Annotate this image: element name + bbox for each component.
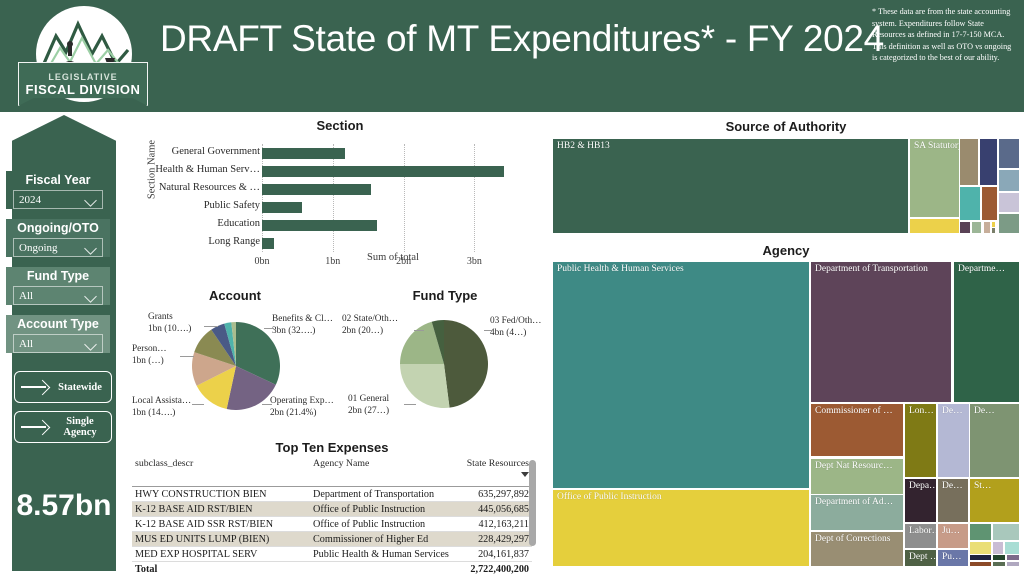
pie-label-name: Benefits & Cl…: [272, 314, 333, 324]
source-of-authority-cell[interactable]: [998, 192, 1020, 213]
section-category-label: General Government: [130, 146, 260, 157]
ongoing-oto-value: Ongoing: [14, 242, 58, 254]
agency-cell-label: De…: [938, 404, 969, 416]
agency-cell-label: Department of Ad…: [811, 495, 903, 507]
filter-fiscal-year: Fiscal Year 2024: [6, 171, 110, 209]
agency-cell-label: Pu…: [938, 550, 968, 562]
gridline: [333, 144, 334, 252]
agency-cell[interactable]: Department of Transportation: [810, 261, 952, 403]
chevron-down-icon: [84, 194, 97, 207]
gridline: [262, 144, 263, 252]
section-bar[interactable]: [262, 148, 345, 159]
agency-cell-label: Depa…: [905, 479, 936, 491]
source-of-authority-cell[interactable]: HB2 & HB13: [552, 138, 909, 234]
agency-cell-label: Department of Transportation: [811, 262, 951, 274]
gridline: [404, 144, 405, 252]
pie-label-value: 1bn (10….): [148, 324, 191, 334]
agency-cell[interactable]: Dept of Corrections: [810, 531, 904, 567]
total-amount: 2,722,400,200: [452, 562, 532, 576]
section-bar[interactable]: [262, 166, 504, 177]
agency-cell[interactable]: Pu…: [937, 549, 969, 567]
pie-label-leader-line: [192, 404, 204, 405]
filter-account-type: Account Type All: [6, 315, 110, 353]
table-total-row: Total2,722,400,200: [132, 562, 532, 576]
pie-data-label: 02 State/Oth…2bn (20…): [342, 314, 398, 337]
logo-line-2: FISCAL DIVISION: [26, 82, 141, 97]
chevron-down-icon: [84, 290, 97, 303]
account-type-value: All: [14, 338, 33, 350]
header-footnote: * These data are from the state accounti…: [872, 6, 1018, 64]
pie-label-leader-line: [414, 330, 424, 331]
table-row[interactable]: K-12 BASE AID RST/BIENOffice of Public I…: [132, 502, 532, 517]
arrow-right-icon: [19, 418, 53, 436]
pie-label-name: 01 General: [348, 394, 389, 404]
cell-agency: Office of Public Instruction: [310, 517, 452, 532]
section-bar-chart[interactable]: Section Name General GovernmentHealth & …: [130, 118, 545, 278]
source-of-authority-cell[interactable]: [959, 138, 979, 186]
source-of-authority-cell[interactable]: [983, 221, 991, 234]
arrow-right-icon: [19, 378, 53, 396]
source-of-authority-title: Source of Authority: [548, 119, 1024, 134]
pie-slices: [192, 322, 280, 410]
logo-line-1: LEGISLATIVE: [48, 72, 117, 82]
source-of-authority-cell[interactable]: [979, 138, 998, 186]
agency-cell-label: Ju…: [938, 524, 968, 536]
cell-subclass: K-12 BASE AID SSR RST/BIEN: [132, 517, 310, 532]
pie-label-leader-line: [264, 328, 274, 329]
agency-cell-label: De…: [970, 404, 1019, 416]
agency-cell[interactable]: [992, 554, 1006, 561]
section-bar[interactable]: [262, 184, 371, 195]
sidebar-arrow-shape: [12, 115, 116, 171]
pie-label-value: 2bn (27…): [348, 406, 389, 416]
single-agency-button[interactable]: Single Agency: [14, 411, 112, 443]
filter-ongoing-oto: Ongoing/OTO Ongoing: [6, 219, 110, 257]
source-of-authority-cell[interactable]: SA Statutory: [909, 138, 960, 218]
fiscal-year-select[interactable]: 2024: [13, 190, 103, 209]
table-row[interactable]: K-12 BASE AID SSR RST/BIENOffice of Publ…: [132, 517, 532, 532]
cell-amount: 228,429,297: [452, 532, 532, 547]
source-of-authority-treemap[interactable]: HB2 & HB13SA Statutory: [552, 138, 1020, 234]
source-of-authority-cell[interactable]: [998, 169, 1020, 192]
pie-label-value: 2bn (20…): [342, 326, 383, 336]
statewide-button[interactable]: Statewide: [14, 371, 112, 403]
agency-cell-label: Dept …: [905, 550, 936, 562]
agency-cell-label: Dept Nat Resourc…: [811, 459, 903, 471]
table-row[interactable]: MUS ED UNITS LUMP (BIEN)Commissioner of …: [132, 532, 532, 547]
column-header-agency[interactable]: Agency Name: [310, 457, 452, 487]
filter-fund-type: Fund Type All: [6, 267, 110, 305]
pie-slice[interactable]: [444, 320, 488, 408]
agency-cell[interactable]: De…: [969, 403, 1020, 478]
agency-cell-label: De…: [938, 479, 968, 491]
agency-cell[interactable]: Labor…: [904, 523, 937, 549]
agency-cell-label: Commissioner of …: [811, 404, 903, 416]
legislative-fiscal-division-logo: LEGISLATIVE FISCAL DIVISION: [14, 2, 150, 112]
agency-cell[interactable]: De…: [937, 478, 969, 523]
agency-cell[interactable]: St…: [969, 478, 1020, 523]
cell-amount: 635,297,892: [452, 487, 532, 502]
cell-amount: 204,161,837: [452, 547, 532, 562]
cell-agency: Commissioner of Higher Ed: [310, 532, 452, 547]
pie-data-label: Person…1bn (…): [132, 344, 167, 367]
pie-slice[interactable]: [400, 364, 450, 408]
account-type-select[interactable]: All: [13, 334, 103, 353]
fund-type-select[interactable]: All: [13, 286, 103, 305]
agency-cell[interactable]: [992, 541, 1004, 555]
section-bar[interactable]: [262, 220, 377, 231]
pie-label-value: 2bn (21.4%): [270, 408, 316, 418]
agency-cell[interactable]: Office of Public Instruction: [552, 489, 810, 567]
pie-label-name: Grants: [148, 312, 173, 322]
section-bar[interactable]: [262, 202, 302, 213]
column-header-state-resources-label: State Resources: [467, 458, 529, 469]
section-chart-x-axis-label: Sum of total: [262, 252, 524, 263]
cell-agency: Department of Transportation: [310, 487, 452, 502]
fund-type-pie-chart[interactable]: 03 Fed/Oth…4bn (4…)01 General2bn (27…)02…: [342, 300, 547, 430]
total-label: Total: [132, 562, 310, 576]
pie-label-name: Operating Exp…: [270, 396, 334, 406]
section-chart-plot-area: 0bn1bn2bn3bn: [262, 144, 524, 252]
agency-cell[interactable]: [969, 561, 992, 567]
agency-cell[interactable]: Ju…: [937, 523, 969, 549]
agency-cell[interactable]: [992, 523, 1020, 541]
page-title: DRAFT State of MT Expenditures* - FY 202…: [160, 18, 884, 60]
agency-cell-label: Labor…: [905, 524, 936, 536]
pie-label-name: Local Assista…: [132, 396, 191, 406]
cell-amount: 412,163,211: [452, 517, 532, 532]
agency-treemap-title: Agency: [548, 243, 1024, 258]
pie-label-leader-line: [180, 356, 194, 357]
agency-cell[interactable]: Lon…: [904, 403, 937, 478]
gridline: [474, 144, 475, 252]
agency-cell[interactable]: Commissioner of …: [810, 403, 904, 457]
pie-data-label: 03 Fed/Oth…4bn (4…): [490, 316, 541, 339]
cell-subclass: MED EXP HOSPITAL SERV: [132, 547, 310, 562]
agency-cell[interactable]: [1006, 554, 1020, 561]
source-of-authority-cell[interactable]: [971, 221, 982, 234]
agency-cell[interactable]: Dept …: [904, 549, 937, 567]
source-of-authority-cell[interactable]: [959, 221, 971, 234]
section-category-label: Long Range: [130, 236, 260, 247]
pie-label-name: 03 Fed/Oth…: [490, 316, 541, 326]
agency-cell[interactable]: [969, 541, 992, 555]
agency-cell[interactable]: Public Health & Human Services: [552, 261, 810, 489]
column-header-subclass[interactable]: subclass_descr: [132, 457, 310, 487]
top-ten-expenses-table[interactable]: subclass_descr Agency Name State Resourc…: [132, 438, 547, 571]
chevron-down-icon: [84, 242, 97, 255]
agency-cell-label: Office of Public Instruction: [553, 490, 809, 502]
sort-descending-icon: [521, 472, 529, 477]
agency-cell[interactable]: [969, 523, 992, 541]
source-of-authority-cell[interactable]: [998, 138, 1020, 169]
source-of-authority-cell-label: SA Statutory: [910, 139, 959, 151]
pie-slices: [400, 320, 488, 408]
agency-cell[interactable]: De…: [937, 403, 970, 478]
table-header-row: subclass_descr Agency Name State Resourc…: [132, 457, 532, 487]
pie-data-label: 01 General2bn (27…): [348, 394, 389, 417]
expenses-table: subclass_descr Agency Name State Resourc…: [132, 457, 532, 576]
pie-label-leader-line: [204, 326, 218, 327]
agency-cell[interactable]: Depa…: [904, 478, 937, 523]
table-row[interactable]: HWY CONSTRUCTION BIENDepartment of Trans…: [132, 487, 532, 502]
total-spacer: [310, 562, 452, 576]
agency-treemap[interactable]: Public Health & Human ServicesOffice of …: [552, 261, 1020, 567]
section-category-label: Health & Human Serv…: [130, 164, 260, 175]
pie-label-value: 3bn (32….): [272, 326, 315, 336]
agency-cell[interactable]: Departme…: [953, 261, 1020, 403]
agency-cell[interactable]: Dept Nat Resourc…: [810, 458, 904, 495]
pie-data-label: Local Assista…1bn (14….): [132, 396, 191, 419]
fund-type-value: All: [14, 290, 33, 302]
section-category-label: Natural Resources & …: [130, 182, 260, 193]
agency-cell[interactable]: [969, 554, 992, 561]
agency-cell[interactable]: [1006, 561, 1020, 567]
agency-cell-label: Public Health & Human Services: [553, 262, 809, 274]
table-row[interactable]: MED EXP HOSPITAL SERVPublic Health & Hum…: [132, 547, 532, 562]
section-category-label: Public Safety: [130, 200, 260, 211]
filter-label-account-type: Account Type: [6, 315, 110, 334]
source-of-authority-cell-label: HB2 & HB13: [553, 139, 908, 151]
source-of-authority-cell[interactable]: [959, 186, 981, 221]
single-agency-button-label: Single Agency: [53, 416, 111, 438]
section-category-label: Education: [130, 218, 260, 229]
table-body: HWY CONSTRUCTION BIENDepartment of Trans…: [132, 487, 532, 576]
cell-agency: Public Health & Human Services: [310, 547, 452, 562]
filter-label-fiscal-year: Fiscal Year: [6, 171, 110, 190]
section-chart-category-labels: General GovernmentHealth & Human Serv…Na…: [130, 144, 260, 252]
cell-subclass: HWY CONSTRUCTION BIEN: [132, 487, 310, 502]
pie-label-value: 4bn (4…): [490, 328, 526, 338]
agency-cell[interactable]: Department of Ad…: [810, 494, 904, 531]
agency-cell-label: Dept of Corrections: [811, 532, 903, 544]
pie-label-value: 1bn (…): [132, 356, 164, 366]
column-header-state-resources[interactable]: State Resources: [452, 457, 532, 487]
fiscal-year-value: 2024: [14, 194, 41, 206]
filter-label-ongoing-oto: Ongoing/OTO: [6, 219, 110, 238]
agency-cell-label: Departme…: [954, 262, 1019, 274]
pie-data-label: Operating Exp…2bn (21.4%): [270, 396, 334, 419]
pie-label-name: 02 State/Oth…: [342, 314, 398, 324]
source-of-authority-cell[interactable]: [909, 218, 960, 234]
pie-label-leader-line: [262, 404, 272, 405]
cell-amount: 445,056,685: [452, 502, 532, 517]
source-of-authority-cell[interactable]: [981, 186, 998, 221]
source-of-authority-cell[interactable]: [998, 213, 1020, 234]
pie-data-label: Grants1bn (10….): [148, 312, 191, 335]
agency-cell[interactable]: [1004, 541, 1020, 555]
agency-cell-label: Lon…: [905, 404, 936, 416]
agency-cell-label: St…: [970, 479, 1019, 491]
ongoing-oto-select[interactable]: Ongoing: [13, 238, 103, 257]
cell-subclass: MUS ED UNITS LUMP (BIEN): [132, 532, 310, 547]
pie-label-leader-line: [484, 330, 492, 331]
agency-cell[interactable]: [992, 561, 1006, 567]
pie-label-leader-line: [404, 404, 416, 405]
pie-label-name: Person…: [132, 344, 167, 354]
app-header: LEGISLATIVE FISCAL DIVISION DRAFT State …: [0, 0, 1024, 112]
cell-agency: Office of Public Instruction: [310, 502, 452, 517]
source-of-authority-cell[interactable]: [991, 227, 996, 234]
filter-label-fund-type: Fund Type: [6, 267, 110, 286]
cell-subclass: K-12 BASE AID RST/BIEN: [132, 502, 310, 517]
section-bar[interactable]: [262, 238, 274, 249]
chevron-down-icon: [84, 338, 97, 351]
filter-sidebar: Fiscal Year 2024 Ongoing/OTO Ongoing Fun…: [6, 115, 122, 571]
table-scrollbar[interactable]: [529, 460, 536, 546]
account-pie-chart[interactable]: Benefits & Cl…3bn (32….)Operating Exp…2b…: [132, 300, 340, 430]
total-expenditures-kpi: 8.57bn: [6, 489, 122, 523]
statewide-button-label: Statewide: [53, 382, 111, 393]
pie-data-label: Benefits & Cl…3bn (32….): [272, 314, 333, 337]
pie-label-value: 1bn (14….): [132, 408, 175, 418]
